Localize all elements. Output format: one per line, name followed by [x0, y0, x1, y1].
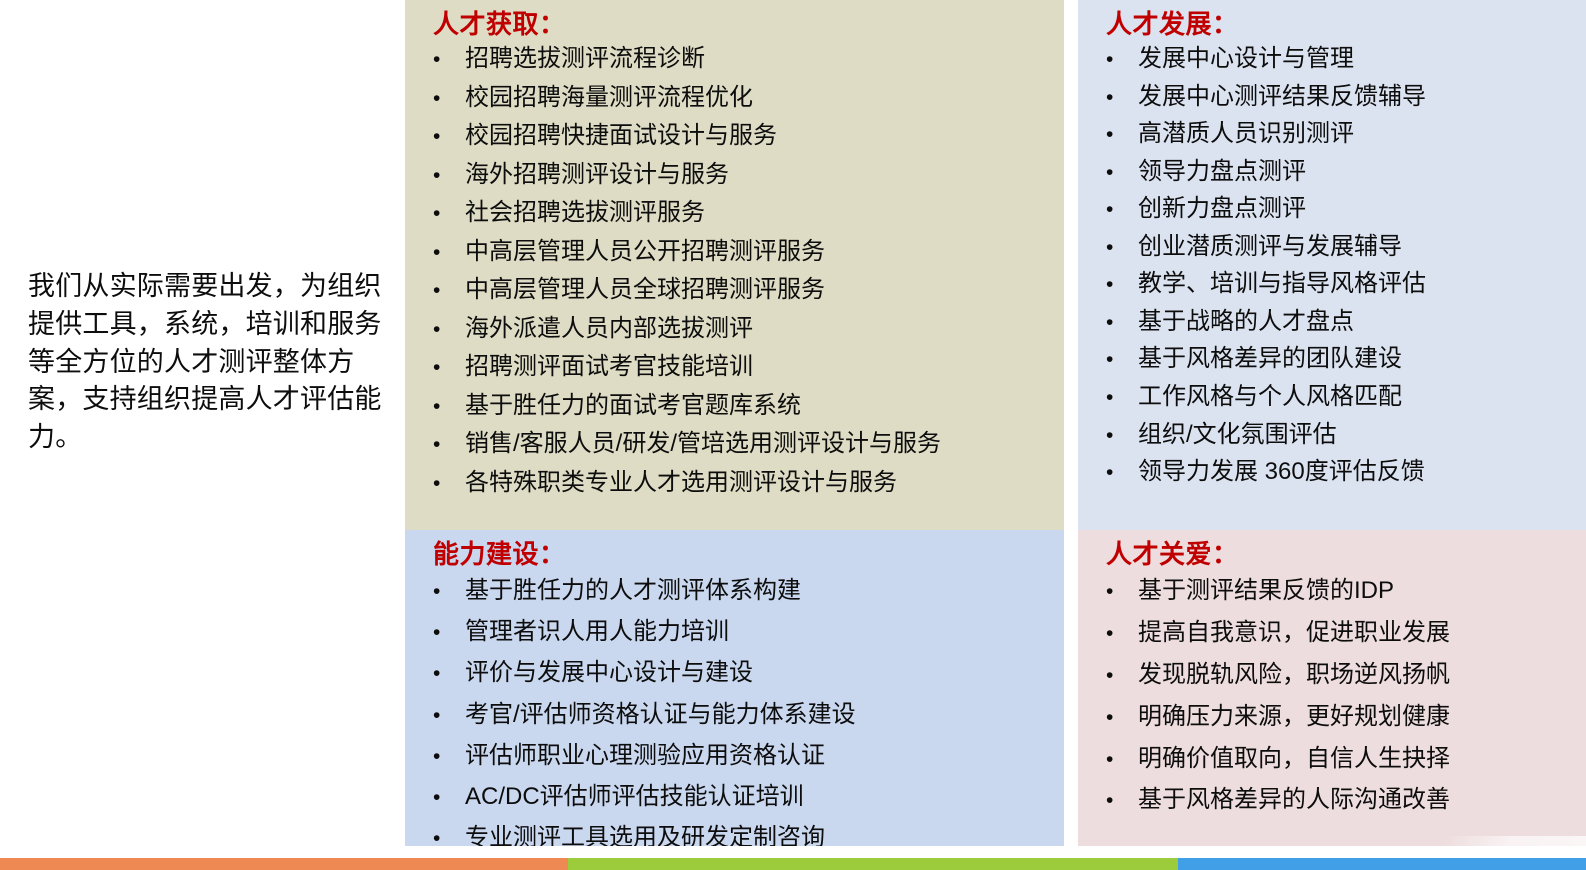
list-item-label: 中高层管理人员公开招聘测评服务 [465, 233, 1050, 272]
list-item: •管理者识人用人能力培训 [419, 611, 1050, 652]
bullet-dot-icon: • [419, 622, 465, 643]
footer-strip-orange [0, 858, 568, 870]
list-item-label: 管理者识人用人能力培训 [465, 611, 1050, 652]
list-item: •创新力盘点测评 [1092, 190, 1572, 228]
bullet-dot-icon: • [419, 203, 465, 224]
bullet-dot-icon: • [1092, 312, 1138, 333]
list-item-label: 校园招聘海量测评流程优化 [465, 79, 1050, 118]
list-talent-acquisition: •招聘选拔测评流程诊断•校园招聘海量测评流程优化•校园招聘快捷面试设计与服务•海… [419, 40, 1050, 502]
list-item-label: 评估师职业心理测验应用资格认证 [465, 735, 1050, 776]
list-item: •高潜质人员识别测评 [1092, 115, 1572, 153]
list-item-label: 明确压力来源，更好规划健康 [1138, 696, 1572, 738]
list-item-label: 工作风格与个人风格匹配 [1138, 378, 1572, 416]
list-item: •专业测评工具选用及研发定制咨询 [419, 817, 1050, 846]
list-item-label: 高潜质人员识别测评 [1138, 115, 1572, 153]
list-item-label: 中高层管理人员全球招聘测评服务 [465, 271, 1050, 310]
list-item-label: 各特殊职类专业人才选用测评设计与服务 [465, 464, 1050, 503]
list-item-label: AC/DC评估师评估技能认证培训 [465, 776, 1050, 817]
list-item: •中高层管理人员公开招聘测评服务 [419, 233, 1050, 272]
list-item-label: 领导力发展 360度评估反馈 [1138, 453, 1572, 491]
panel-title-talent-development: 人才发展： [1106, 10, 1572, 39]
bullet-dot-icon: • [419, 88, 465, 109]
list-item-label: 基于风格差异的人际沟通改善 [1138, 779, 1572, 821]
bullet-dot-icon: • [419, 126, 465, 147]
list-item-label: 提高自我意识，促进职业发展 [1138, 612, 1572, 654]
bullet-dot-icon: • [1092, 749, 1138, 770]
list-item-label: 评价与发展中心设计与建设 [465, 652, 1050, 693]
list-item-label: 发展中心设计与管理 [1138, 40, 1572, 78]
list-item: •中高层管理人员全球招聘测评服务 [419, 271, 1050, 310]
list-item: •提高自我意识，促进职业发展 [1092, 612, 1572, 654]
bullet-dot-icon: • [419, 357, 465, 378]
intro-paragraph: 我们从实际需要出发，为组织提供工具，系统，培训和服务等全方位的人才测评整体方案，… [28, 268, 388, 457]
list-item: •评估师职业心理测验应用资格认证 [419, 735, 1050, 776]
list-item-label: 基于测评结果反馈的IDP [1138, 570, 1572, 612]
list-item: •海外派遣人员内部选拔测评 [419, 310, 1050, 349]
footer-strip-green [568, 858, 1178, 870]
list-item-label: 发现脱轨风险，职场逆风扬帆 [1138, 654, 1572, 696]
list-item: •基于战略的人才盘点 [1092, 303, 1572, 341]
bullet-dot-icon: • [1092, 387, 1138, 408]
list-item-label: 招聘选拔测评流程诊断 [465, 40, 1050, 79]
bullet-dot-icon: • [1092, 87, 1138, 108]
list-item: •评价与发展中心设计与建设 [419, 652, 1050, 693]
list-item-label: 海外派遣人员内部选拔测评 [465, 310, 1050, 349]
bullet-dot-icon: • [1092, 665, 1138, 686]
footer-color-strips [0, 858, 1586, 870]
list-item: •发展中心测评结果反馈辅导 [1092, 78, 1572, 116]
list-item: •领导力发展 360度评估反馈 [1092, 453, 1572, 491]
list-item: •教学、培训与指导风格评估 [1092, 265, 1572, 303]
list-item: •创业潜质测评与发展辅导 [1092, 228, 1572, 266]
list-item-label: 基于胜任力的面试考官题库系统 [465, 387, 1050, 426]
panel-title-capability-building: 能力建设： [433, 540, 1050, 569]
list-item-label: 领导力盘点测评 [1138, 153, 1572, 191]
bullet-dot-icon: • [1092, 462, 1138, 483]
bullet-dot-icon: • [1092, 49, 1138, 70]
bullet-dot-icon: • [1092, 425, 1138, 446]
list-item: •校园招聘快捷面试设计与服务 [419, 117, 1050, 156]
bullet-dot-icon: • [419, 434, 465, 455]
bullet-dot-icon: • [419, 663, 465, 684]
bullet-dot-icon: • [419, 165, 465, 186]
panel-talent-care: 人才关爱： •基于测评结果反馈的IDP•提高自我意识，促进职业发展•发现脱轨风险… [1078, 530, 1586, 846]
bullet-dot-icon: • [419, 49, 465, 70]
bullet-dot-icon: • [1092, 199, 1138, 220]
list-item-label: 创新力盘点测评 [1138, 190, 1572, 228]
panel-talent-acquisition: 人才获取： •招聘选拔测评流程诊断•校园招聘海量测评流程优化•校园招聘快捷面试设… [405, 0, 1064, 530]
list-item-label: 创业潜质测评与发展辅导 [1138, 228, 1572, 266]
bullet-dot-icon: • [419, 787, 465, 808]
list-item-label: 发展中心测评结果反馈辅导 [1138, 78, 1572, 116]
bullet-dot-icon: • [1092, 707, 1138, 728]
list-talent-care: •基于测评结果反馈的IDP•提高自我意识，促进职业发展•发现脱轨风险，职场逆风扬… [1092, 570, 1572, 821]
list-item-label: 基于战略的人才盘点 [1138, 303, 1572, 341]
list-item: •领导力盘点测评 [1092, 153, 1572, 191]
bullet-dot-icon: • [419, 705, 465, 726]
panel-talent-development: 人才发展： •发展中心设计与管理•发展中心测评结果反馈辅导•高潜质人员识别测评•… [1078, 0, 1586, 530]
bullet-dot-icon: • [1092, 581, 1138, 602]
list-item: •校园招聘海量测评流程优化 [419, 79, 1050, 118]
list-item: •基于风格差异的人际沟通改善 [1092, 779, 1572, 821]
list-item: •基于测评结果反馈的IDP [1092, 570, 1572, 612]
list-item-label: 明确价值取向，自信人生抉择 [1138, 738, 1572, 780]
bullet-dot-icon: • [1092, 790, 1138, 811]
list-item: •招聘选拔测评流程诊断 [419, 40, 1050, 79]
list-item-label: 专业测评工具选用及研发定制咨询 [465, 817, 1050, 846]
bullet-dot-icon: • [419, 280, 465, 301]
bullet-dot-icon: • [419, 319, 465, 340]
panel-capability-building: 能力建设： •基于胜任力的人才测评体系构建•管理者识人用人能力培训•评价与发展中… [405, 530, 1064, 846]
list-item: •各特殊职类专业人才选用测评设计与服务 [419, 464, 1050, 503]
list-item-label: 海外招聘测评设计与服务 [465, 156, 1050, 195]
bullet-dot-icon: • [419, 581, 465, 602]
slide-canvas: 我们从实际需要出发，为组织提供工具，系统，培训和服务等全方位的人才测评整体方案，… [0, 0, 1586, 870]
list-capability-building: •基于胜任力的人才测评体系构建•管理者识人用人能力培训•评价与发展中心设计与建设… [419, 570, 1050, 846]
footer-strip-blue [1178, 858, 1586, 870]
bullet-dot-icon: • [419, 746, 465, 767]
list-item-label: 社会招聘选拔测评服务 [465, 194, 1050, 233]
bullet-dot-icon: • [1092, 274, 1138, 295]
list-item: •基于胜任力的面试考官题库系统 [419, 387, 1050, 426]
bullet-dot-icon: • [419, 396, 465, 417]
list-item: •招聘测评面试考官技能培训 [419, 348, 1050, 387]
list-item: •明确压力来源，更好规划健康 [1092, 696, 1572, 738]
bullet-dot-icon: • [419, 242, 465, 263]
list-item: •社会招聘选拔测评服务 [419, 194, 1050, 233]
list-talent-development: •发展中心设计与管理•发展中心测评结果反馈辅导•高潜质人员识别测评•领导力盘点测… [1092, 40, 1572, 491]
list-item: •明确价值取向，自信人生抉择 [1092, 738, 1572, 780]
list-item: •基于风格差异的团队建设 [1092, 340, 1572, 378]
list-item: •工作风格与个人风格匹配 [1092, 378, 1572, 416]
panel-title-talent-care: 人才关爱： [1106, 540, 1572, 569]
bullet-dot-icon: • [1092, 349, 1138, 370]
list-item-label: 销售/客服人员/研发/管培选用测评设计与服务 [465, 425, 1050, 464]
list-item: •基于胜任力的人才测评体系构建 [419, 570, 1050, 611]
bullet-dot-icon: • [419, 473, 465, 494]
bullet-dot-icon: • [1092, 623, 1138, 644]
list-item-label: 教学、培训与指导风格评估 [1138, 265, 1572, 303]
bullet-dot-icon: • [419, 828, 465, 846]
list-item: •AC/DC评估师评估技能认证培训 [419, 776, 1050, 817]
list-item: •发现脱轨风险，职场逆风扬帆 [1092, 654, 1572, 696]
list-item-label: 组织/文化氛围评估 [1138, 416, 1572, 454]
bullet-dot-icon: • [1092, 237, 1138, 258]
list-item: •销售/客服人员/研发/管培选用测评设计与服务 [419, 425, 1050, 464]
list-item-label: 招聘测评面试考官技能培训 [465, 348, 1050, 387]
list-item: •海外招聘测评设计与服务 [419, 156, 1050, 195]
list-item-label: 校园招聘快捷面试设计与服务 [465, 117, 1050, 156]
panel-title-talent-acquisition: 人才获取： [433, 10, 1050, 39]
list-item-label: 基于风格差异的团队建设 [1138, 340, 1572, 378]
list-item: •考官/评估师资格认证与能力体系建设 [419, 694, 1050, 735]
bullet-dot-icon: • [1092, 124, 1138, 145]
list-item-label: 基于胜任力的人才测评体系构建 [465, 570, 1050, 611]
list-item-label: 考官/评估师资格认证与能力体系建设 [465, 694, 1050, 735]
list-item: •组织/文化氛围评估 [1092, 416, 1572, 454]
list-item: •发展中心设计与管理 [1092, 40, 1572, 78]
bullet-dot-icon: • [1092, 162, 1138, 183]
